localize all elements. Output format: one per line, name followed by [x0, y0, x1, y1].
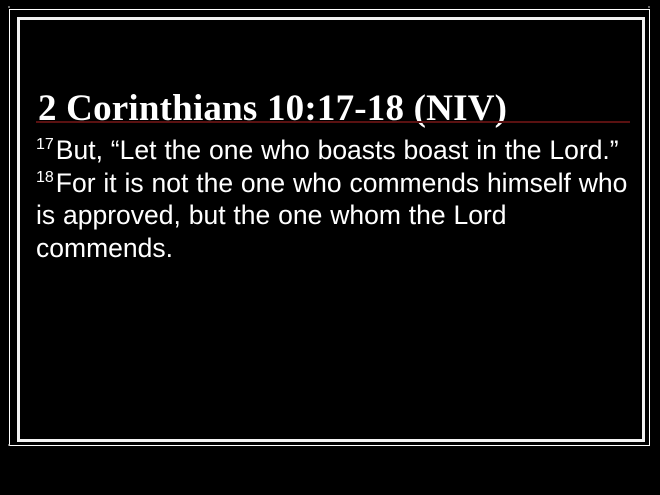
border-speckle-top-right: [648, 6, 650, 8]
border-speckle-bottom-left: [8, 444, 10, 446]
slide-title: 2 Corinthians 10:17-18 (NIV): [38, 87, 628, 131]
scripture-body-text: 17But, “Let the one who boasts boast in …: [36, 134, 628, 264]
presentation-slide: 2 Corinthians 10:17-18 (NIV) 17But, “Let…: [0, 0, 660, 495]
verse-text-17: But, “Let the one who boasts boast in th…: [56, 135, 619, 165]
verse-number-17: 17: [36, 136, 56, 153]
title-divider-line: [36, 121, 630, 123]
verse-text-18: For it is not the one who commends himse…: [36, 168, 627, 263]
slide-content-area: 2 Corinthians 10:17-18 (NIV) 17But, “Let…: [28, 28, 636, 432]
border-speckle-top-left: [8, 6, 10, 8]
verse-number-18: 18: [36, 169, 56, 186]
